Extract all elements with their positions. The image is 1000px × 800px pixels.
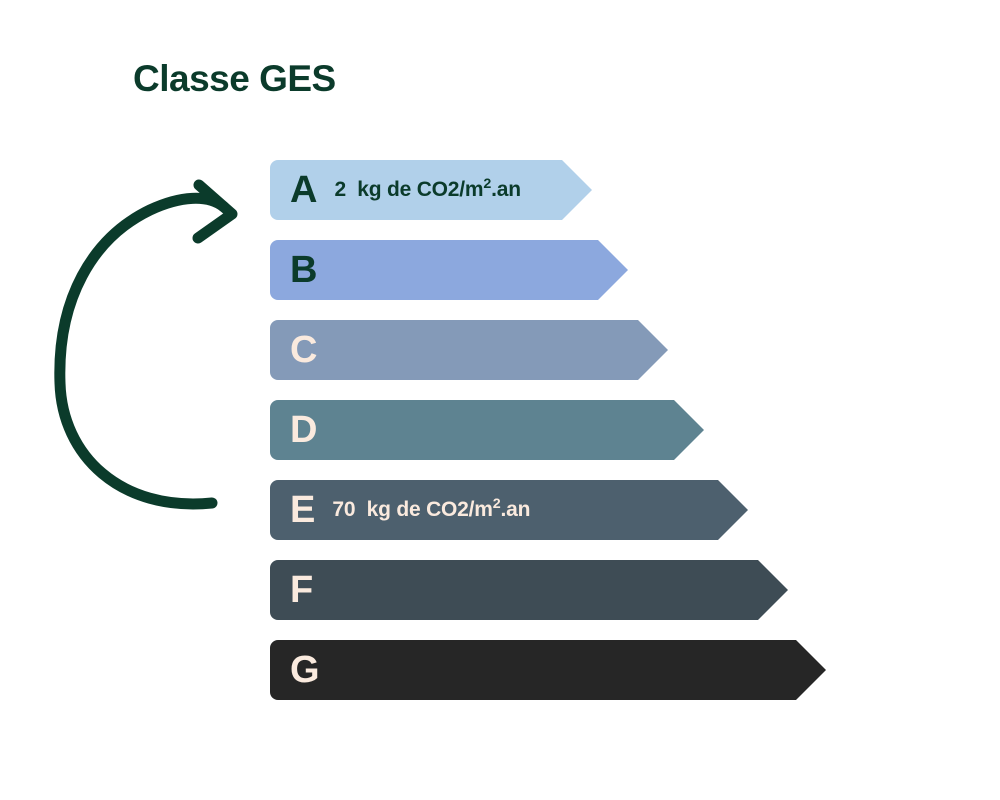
rating-bar-b[interactable]: B xyxy=(270,240,628,300)
bar-value-a: 2 kg de CO2/m2.an xyxy=(334,178,520,202)
bar-content-e: E 70 kg de CO2/m2.an xyxy=(270,480,530,540)
bar-content-b: B xyxy=(270,240,317,300)
rating-bar-a[interactable]: A 2 kg de CO2/m2.an xyxy=(270,160,592,220)
bar-value-unit-a: kg de CO2/m2.an xyxy=(352,178,521,201)
rating-bar-g[interactable]: G xyxy=(270,640,826,700)
bar-value-number-a: 2 xyxy=(334,178,345,201)
bar-content-a: A 2 kg de CO2/m2.an xyxy=(270,160,521,220)
bar-letter-d: D xyxy=(290,411,317,449)
bar-content-g: G xyxy=(270,640,320,700)
bar-letter-a: A xyxy=(290,171,317,209)
bar-letter-f: F xyxy=(290,571,313,609)
bar-content-f: F xyxy=(270,560,313,620)
rating-bar-list: A 2 kg de CO2/m2.an B C xyxy=(270,160,970,705)
bar-shape-d xyxy=(270,400,704,460)
superscript-two-a: 2 xyxy=(483,176,491,192)
bar-shape-c xyxy=(270,320,668,380)
superscript-two-e: 2 xyxy=(493,496,501,512)
bar-letter-g: G xyxy=(290,651,320,689)
bar-letter-b: B xyxy=(290,251,317,289)
bar-letter-e: E xyxy=(290,491,315,529)
bar-value-e: 70 kg de CO2/m2.an xyxy=(332,498,530,522)
rating-bar-c[interactable]: C xyxy=(270,320,668,380)
bar-content-c: C xyxy=(270,320,317,380)
bar-shape-f xyxy=(270,560,788,620)
bar-shape-b xyxy=(270,240,628,300)
rating-bar-e[interactable]: E 70 kg de CO2/m2.an xyxy=(270,480,748,540)
bar-value-unit-e: kg de CO2/m2.an xyxy=(361,498,530,521)
bar-value-number-e: 70 xyxy=(332,498,355,521)
bar-letter-c: C xyxy=(290,331,317,369)
rating-bar-f[interactable]: F xyxy=(270,560,788,620)
ges-rating-chart: Classe GES A 2 kg de CO2/m2.an xyxy=(0,0,1000,800)
rating-bar-d[interactable]: D xyxy=(270,400,704,460)
page-title: Classe GES xyxy=(133,58,336,100)
bar-content-d: D xyxy=(270,400,317,460)
bar-shape-g xyxy=(270,640,826,700)
